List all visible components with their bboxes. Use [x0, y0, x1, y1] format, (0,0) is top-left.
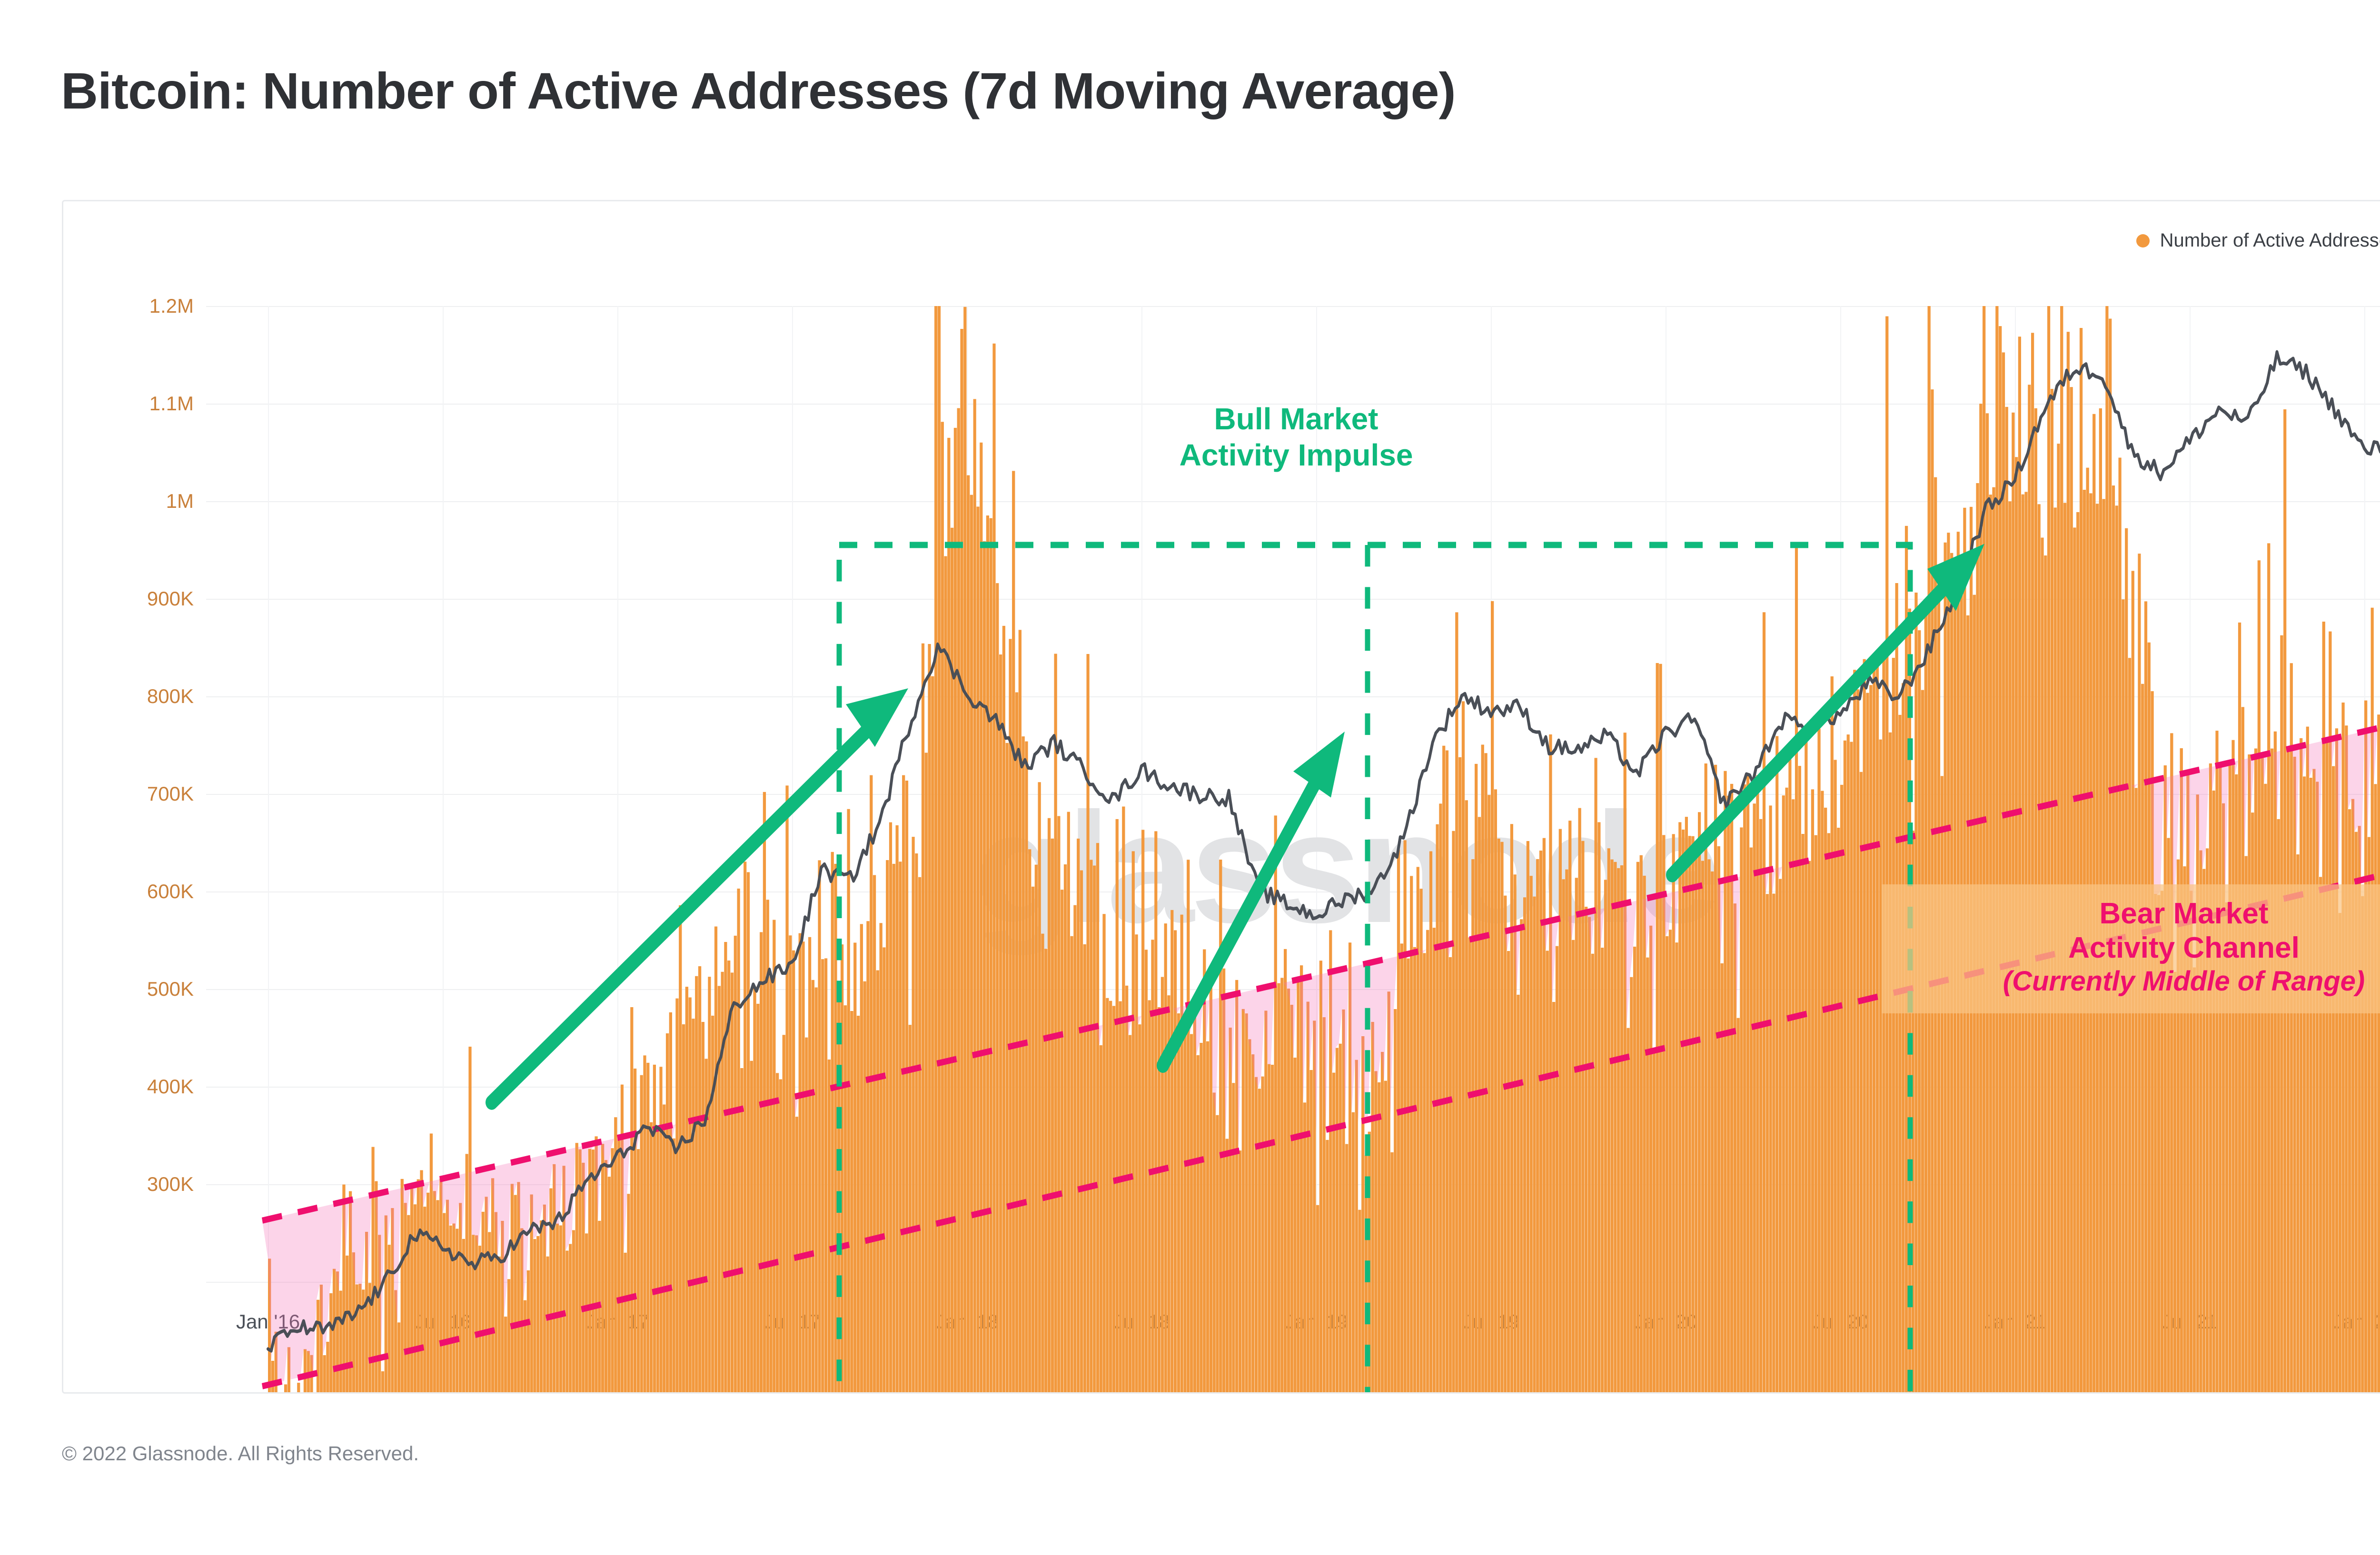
plot-area: glassnode 1.2M 1.1M 1M 900K 800K 700K 60…	[206, 306, 2380, 1394]
bear-market-annotation: Bear Market Activity Channel (Currently …	[1882, 884, 2380, 1013]
y-axis-left-tick: 600K	[147, 880, 194, 903]
y-axis-left-tick: 1.2M	[149, 295, 194, 317]
page-title: Bitcoin: Number of Active Addresses (7d …	[61, 61, 1456, 120]
legend-label: Number of Active Addresses	[2160, 230, 2380, 251]
y-axis-left-tick: 300K	[147, 1173, 194, 1196]
chart-card: Number of Active Addresses Price [USD] g…	[62, 200, 2380, 1394]
bear-annotation-line-1: Bear Market	[1901, 897, 2380, 931]
y-axis-left-tick: 800K	[147, 685, 194, 708]
chart-legend: Number of Active Addresses Price [USD]	[2136, 230, 2380, 251]
legend-dot-icon	[2136, 234, 2150, 248]
y-axis-left-tick: 400K	[147, 1075, 194, 1098]
y-axis-left-tick: 1M	[166, 490, 194, 513]
y-axis-left-tick: 1.1M	[149, 392, 194, 415]
legend-item-active-addresses: Number of Active Addresses	[2136, 230, 2380, 251]
bull-market-annotation: Bull Market Activity Impulse	[987, 401, 1606, 473]
bear-annotation-line-3: (Currently Middle of Range)	[1901, 965, 2380, 997]
bear-annotation-line-2: Activity Channel	[1901, 931, 2380, 965]
footer-copyright: © 2022 Glassnode. All Rights Reserved.	[62, 1442, 419, 1465]
y-axis-left-tick: 700K	[147, 782, 194, 805]
y-axis-left-tick: 500K	[147, 978, 194, 1000]
y-axis-left-tick: 900K	[147, 587, 194, 610]
